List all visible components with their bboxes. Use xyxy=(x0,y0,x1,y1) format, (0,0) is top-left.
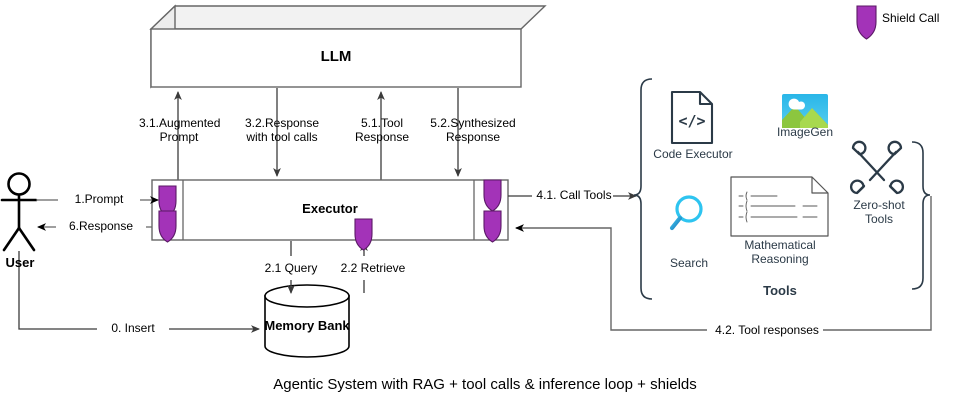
shield-legend-icon xyxy=(857,6,876,39)
formula-document-icon xyxy=(731,177,828,236)
user-executor-edges xyxy=(36,200,158,227)
tools-brace-right xyxy=(912,142,930,289)
tool-responses-edge xyxy=(516,196,931,330)
svg-text:</>: </> xyxy=(678,112,705,130)
tools-brace-left xyxy=(634,79,652,299)
executor-node xyxy=(152,180,508,240)
crossed-wrenches-icon xyxy=(851,142,903,193)
memory-bank-node xyxy=(265,285,349,357)
insert-edge xyxy=(19,251,259,329)
diagram-canvas: </> xyxy=(0,0,970,411)
llm-node xyxy=(151,6,545,87)
image-icon xyxy=(782,94,828,128)
diagram-vector-layer: </> xyxy=(0,0,970,411)
magnifier-icon xyxy=(672,197,701,228)
shield-memory xyxy=(355,219,372,250)
llm-executor-edges xyxy=(178,88,458,180)
user-node xyxy=(2,174,36,251)
code-file-icon: </> xyxy=(672,92,712,143)
